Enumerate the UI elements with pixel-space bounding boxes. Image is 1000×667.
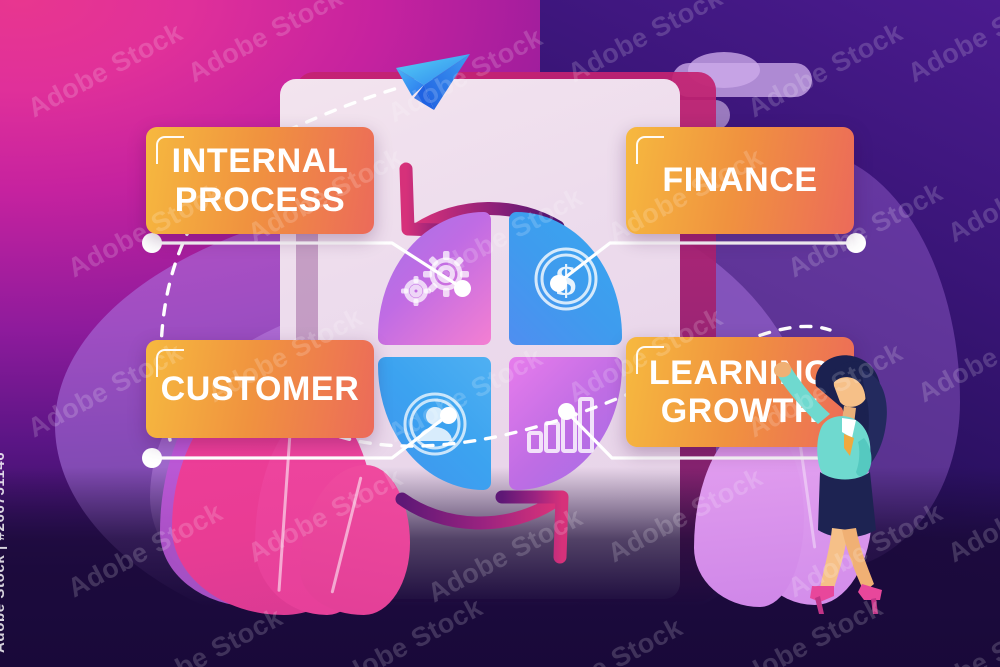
corner-bracket-icon (636, 136, 664, 164)
corner-bracket-icon (156, 349, 184, 377)
corner-bracket-icon (156, 136, 184, 164)
label-finance-text: FINANCE (662, 161, 817, 199)
illustration-canvas: $ (0, 0, 1000, 667)
label-internal-process-text: INTERNAL PROCESS (172, 142, 349, 218)
label-customer-text: CUSTOMER (161, 370, 360, 408)
businesswoman-character (772, 352, 912, 617)
label-customer[interactable]: CUSTOMER (146, 340, 374, 438)
paper-plane-icon (394, 52, 472, 114)
corner-bracket-icon (636, 346, 664, 374)
watermark-credit: Adobe Stock | #266751146 (0, 452, 8, 653)
label-finance[interactable]: FINANCE (626, 127, 854, 234)
label-internal-process[interactable]: INTERNAL PROCESS (146, 127, 374, 234)
